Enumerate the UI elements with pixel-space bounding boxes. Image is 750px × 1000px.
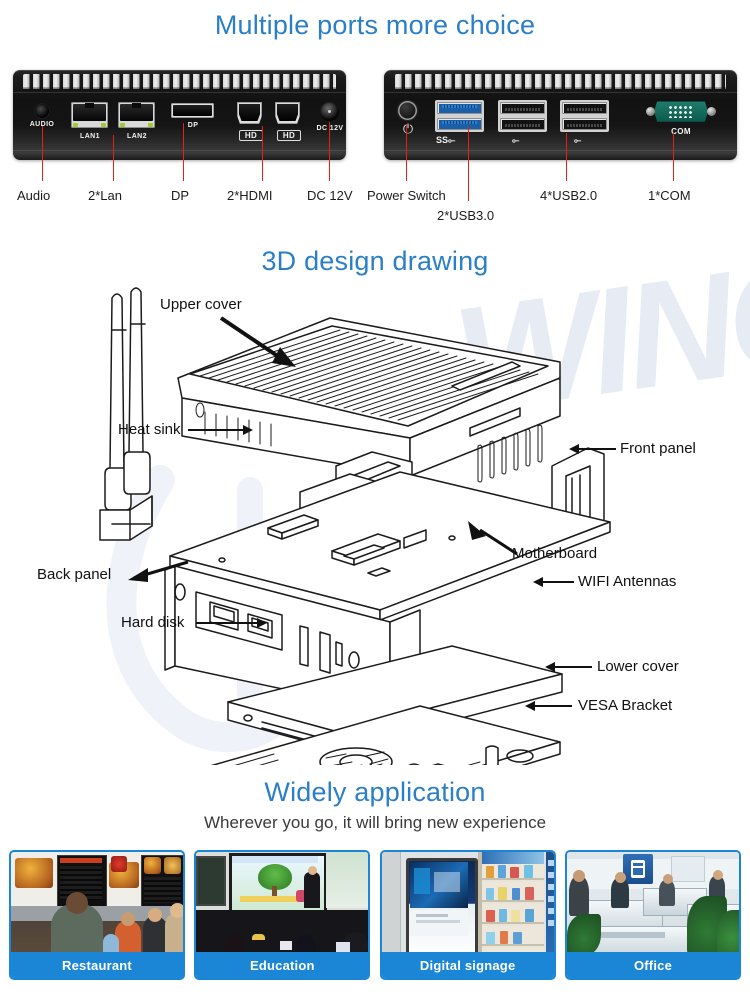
lan2-clip-slot — [132, 103, 141, 108]
leader-audio — [42, 126, 43, 181]
label-wifi-antennas: WIFI Antennas — [578, 573, 676, 590]
com-screw-right — [707, 107, 716, 116]
panel-hairline-right — [384, 92, 737, 93]
label-heat-sink: Heat sink — [118, 421, 181, 438]
usb20-stack-a — [498, 100, 547, 132]
apps-section-subtitle: Wherever you go, it will bring new exper… — [0, 813, 750, 833]
callout-dc-12v: DC 12V — [307, 188, 353, 203]
hdmi-port-2-cavity — [277, 104, 298, 121]
label-upper-cover: Upper cover — [160, 296, 242, 313]
leader-dc — [329, 122, 330, 181]
vent-grille-right — [395, 74, 727, 89]
hdmi-port-1-cavity — [239, 104, 260, 121]
scene-office — [567, 852, 739, 956]
label-front-panel: Front panel — [620, 440, 696, 457]
card-education-photo — [196, 852, 368, 956]
card-restaurant[interactable]: Restaurant — [9, 850, 185, 980]
scene-restaurant — [11, 852, 183, 956]
lan2-led-left — [120, 123, 125, 127]
leader-com — [673, 133, 674, 181]
usb20-port-3-cavity — [564, 104, 606, 113]
usb-trident-icon-a: ⟜ — [512, 135, 519, 146]
lan1-clip-slot — [85, 103, 94, 108]
leader-power-switch — [406, 124, 407, 181]
hdmi-2-silk-label: HD — [277, 130, 301, 141]
label-motherboard: Motherboard — [512, 545, 597, 562]
panel-hairline-left — [13, 92, 346, 93]
label-vesa-bracket: VESA Bracket — [578, 697, 672, 714]
leader-usb20 — [566, 133, 567, 181]
card-office[interactable]: Office — [565, 850, 741, 980]
lan1-port — [71, 102, 108, 128]
displayport-cavity — [173, 105, 212, 116]
power-button[interactable] — [398, 101, 417, 120]
callout-usb30: 2*USB3.0 — [437, 208, 494, 223]
hdmi-port-2 — [275, 102, 300, 124]
leader-dp — [183, 123, 184, 181]
displayport-silk-label: DP — [173, 122, 213, 129]
dc-power-jack — [320, 102, 339, 121]
superspeed-usb-icon: SS⟜ — [436, 135, 455, 146]
lan2-port — [118, 102, 155, 128]
arrow-hard-disk — [196, 622, 258, 624]
card-restaurant-photo — [11, 852, 183, 956]
arrow-vesa-bracket — [534, 705, 572, 707]
com-port-shell — [654, 101, 708, 122]
arrow-lower-cover — [554, 666, 592, 668]
lan1-led-right — [101, 123, 106, 127]
lan1-silk-label: LAN1 — [68, 133, 112, 140]
arrow-front-panel — [578, 448, 616, 450]
label-lower-cover: Lower cover — [597, 658, 679, 675]
usb30-port-2 — [437, 118, 482, 130]
com-port-pins — [668, 105, 694, 118]
com-serial-port — [646, 101, 716, 122]
rear-io-panel-left: AUDIO LAN1 LAN2 DP — [13, 70, 346, 160]
usb20-port-4 — [562, 118, 607, 130]
usb20-port-2 — [500, 118, 545, 130]
card-office-photo — [567, 852, 739, 956]
arrow-back-panel — [126, 554, 190, 584]
drawing-section: 3D design drawing WING — [0, 230, 750, 765]
product-infographic: Multiple ports more choice AUDIO LAN1 — [0, 0, 750, 1000]
dc-silk-label: DC 12V — [307, 125, 346, 132]
panel-bottom-edge-right — [384, 150, 737, 151]
application-card-grid: Restaurant — [0, 850, 750, 990]
usb30-port-1-cavity — [439, 104, 481, 113]
ports-section: Multiple ports more choice AUDIO LAN1 — [0, 0, 750, 230]
hdmi-port-1 — [237, 102, 262, 124]
usb20-port-1 — [500, 102, 545, 114]
apps-section-title: Widely application — [0, 777, 750, 808]
card-digital-signage-caption: Digital signage — [382, 952, 554, 978]
leader-usb30 — [468, 126, 469, 201]
com-screw-left — [646, 107, 655, 116]
power-symbol-icon: ⏻ — [399, 122, 417, 135]
front-io-panel-right: ⏻ SS⟜ ⟜ — [384, 70, 737, 160]
callout-dp: DP — [171, 188, 189, 203]
usb20-port-1-cavity — [502, 104, 544, 113]
callout-usb20: 4*USB2.0 — [540, 188, 597, 203]
label-hard-disk: Hard disk — [121, 614, 184, 631]
label-back-panel: Back panel — [37, 566, 111, 583]
vent-grille-left — [23, 74, 336, 89]
usb-trident-icon-b: ⟜ — [574, 135, 581, 146]
usb30-port-1 — [437, 102, 482, 114]
usb20-port-3 — [562, 102, 607, 114]
lan1-led-left — [73, 123, 78, 127]
scene-education — [196, 852, 368, 956]
card-digital-signage-photo — [382, 852, 554, 956]
usb20-stack-b — [560, 100, 609, 132]
lan2-led-right — [148, 123, 153, 127]
leader-hdmi — [262, 126, 263, 181]
callout-audio: Audio — [17, 188, 50, 203]
displayport-port — [171, 103, 214, 118]
card-office-caption: Office — [567, 952, 739, 978]
arrow-upper-cover — [218, 315, 308, 375]
com-silk-label: COM — [656, 127, 706, 136]
callout-hdmi: 2*HDMI — [227, 188, 273, 203]
card-education[interactable]: Education — [194, 850, 370, 980]
audio-jack-port — [35, 104, 49, 118]
usb30-port-2-cavity — [439, 120, 481, 129]
callout-lan: 2*Lan — [88, 188, 122, 203]
lan2-silk-label: LAN2 — [115, 133, 159, 140]
panel-bottom-edge-left — [13, 150, 346, 151]
usb20-port-2-cavity — [502, 120, 544, 129]
card-education-caption: Education — [196, 952, 368, 978]
usb20-port-4-cavity — [564, 120, 606, 129]
card-restaurant-caption: Restaurant — [11, 952, 183, 978]
usb30-stack — [435, 100, 484, 132]
arrow-heat-sink — [188, 429, 244, 431]
hdmi-1-silk-label: HD — [239, 130, 263, 141]
leader-lan — [113, 135, 114, 181]
card-digital-signage[interactable]: Digital signage — [380, 850, 556, 980]
callout-power-switch: Power Switch — [367, 188, 446, 203]
apps-section: Widely application Wherever you go, it w… — [0, 765, 750, 1000]
arrow-motherboard — [462, 518, 520, 562]
scene-digital-signage — [382, 852, 554, 956]
arrow-wifi-antennas — [542, 581, 574, 583]
ports-section-title: Multiple ports more choice — [0, 10, 750, 41]
callout-com: 1*COM — [648, 188, 691, 203]
exploded-view-drawing — [0, 270, 750, 765]
